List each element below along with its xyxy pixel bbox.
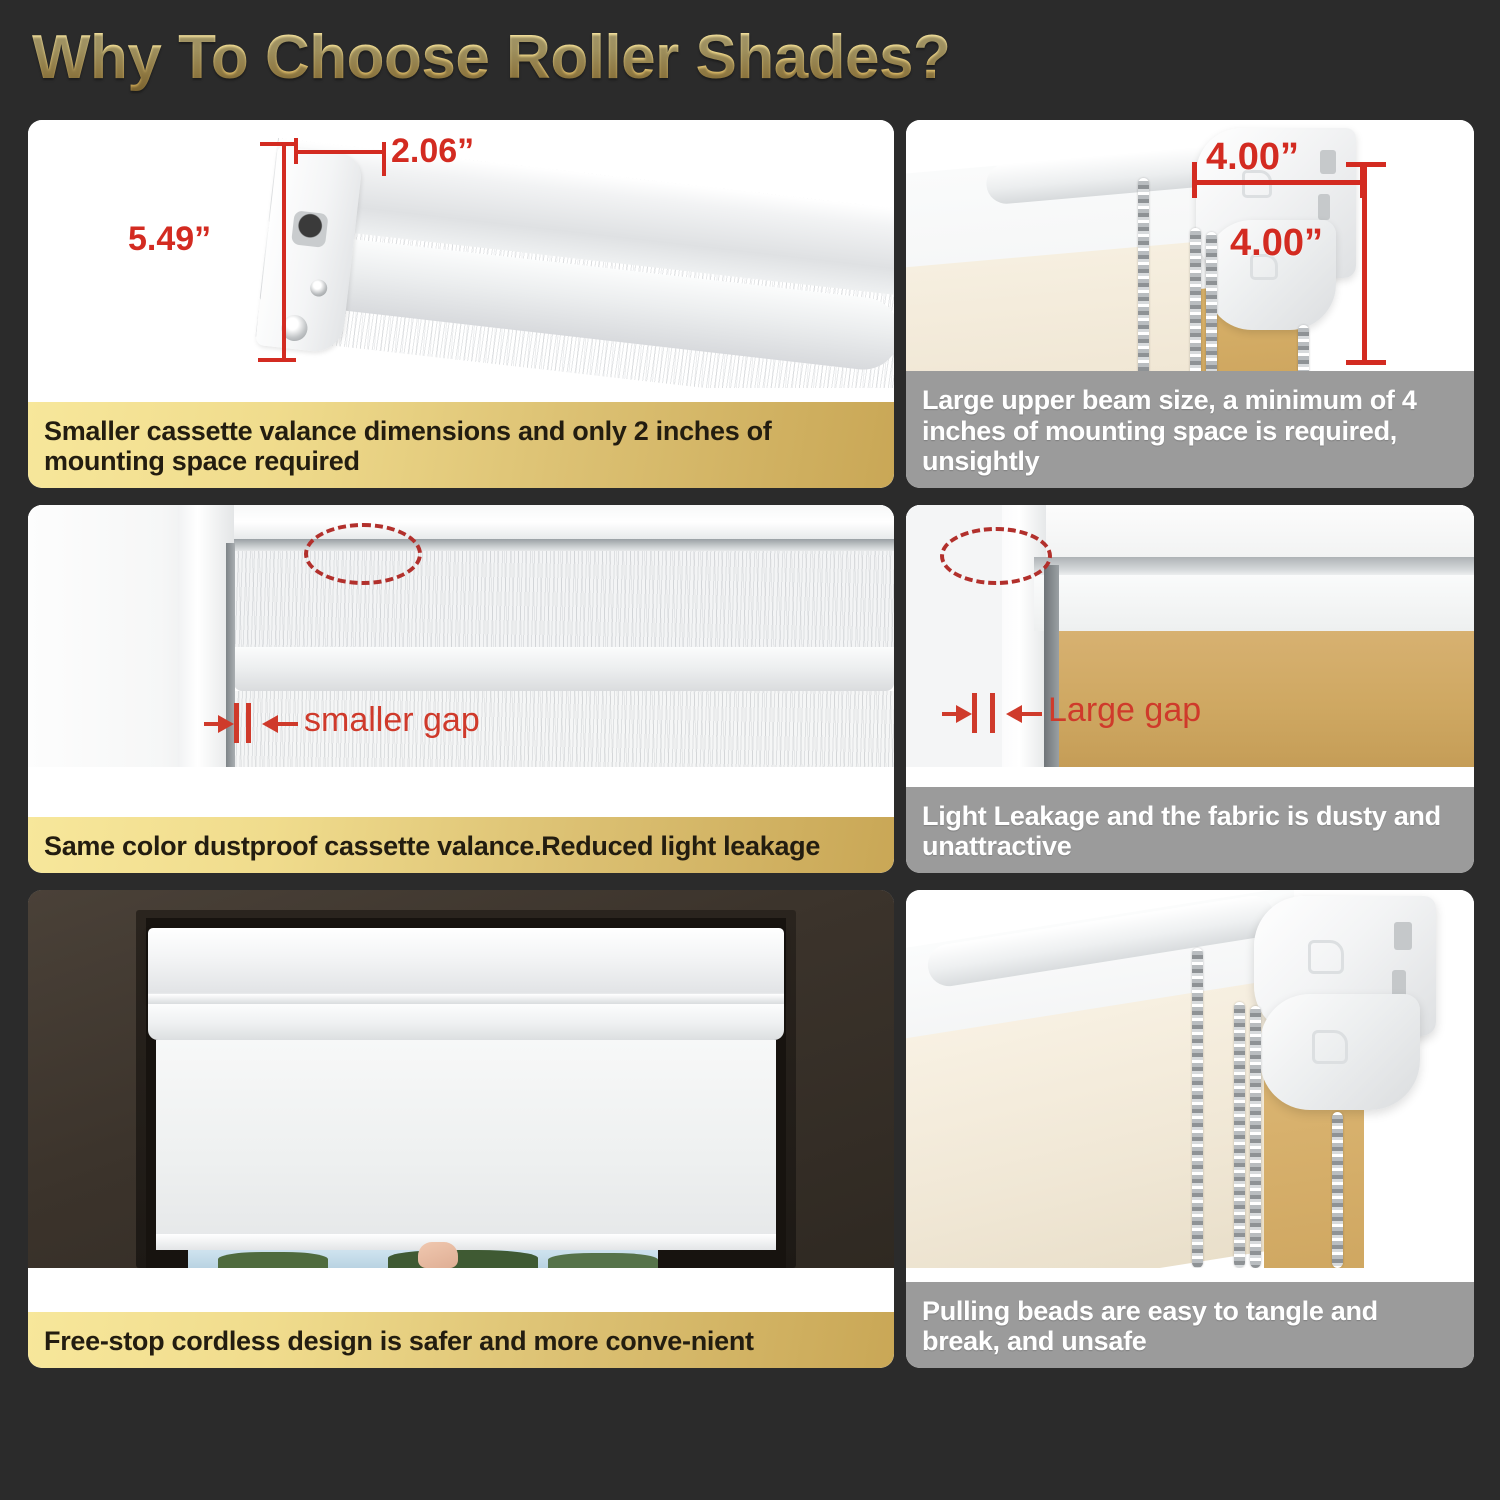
gap-marker-right: [990, 693, 995, 733]
panel-1-photo: 2.06” 5.49”: [28, 120, 894, 388]
width-dim-tick-right: [382, 142, 386, 176]
bracket-emblem-icon: [1312, 1030, 1348, 1064]
height-dim-tick-bottom: [258, 358, 296, 362]
panel-4-photo: Large gap: [906, 505, 1474, 767]
panel-smaller-cassette: 2.06” 5.49” Smaller cassette valance dim…: [28, 120, 894, 488]
bead-chain-art: [1138, 178, 1149, 388]
panel-2-caption: Large upper beam size, a minimum of 4 in…: [906, 371, 1474, 488]
gap-arrow-left-icon: [262, 715, 278, 733]
panel-6-photo: [906, 890, 1474, 1268]
panel-smaller-gap: smaller gap Same color dustproof cassett…: [28, 505, 894, 873]
panel-4-caption: Light Leakage and the fabric is dusty an…: [906, 787, 1474, 873]
comparison-grid: 2.06” 5.49” Smaller cassette valance dim…: [0, 0, 1500, 1500]
bead-chain-art: [1332, 1112, 1343, 1268]
height-dim-label: 4.00”: [1230, 222, 1323, 265]
height-dim-line: [1362, 164, 1367, 364]
cream-fabric-art: [906, 242, 1196, 388]
headrail-art: [1034, 557, 1474, 575]
bead-chain-art: [1192, 948, 1203, 1268]
bracket-notch-icon: [1394, 922, 1412, 950]
height-dim-tick-bottom: [1346, 360, 1386, 365]
bead-chain-art: [1234, 1002, 1245, 1268]
shade-bottom-rail-art: [156, 1234, 776, 1250]
cassette-valance-art: [148, 928, 784, 998]
width-dim-label: 2.06”: [391, 132, 474, 171]
gap-arrow-stem: [1022, 712, 1042, 716]
shade-white-art: [1034, 575, 1474, 631]
bracket-notch-icon: [1318, 194, 1330, 220]
tree-art: [218, 1252, 328, 1268]
gap-arrow-left-icon: [1006, 705, 1022, 723]
panel-pulling-beads: Pulling beads are easy to tangle and bre…: [906, 890, 1474, 1368]
panel-5-caption: Free-stop cordless design is safer and m…: [28, 1312, 894, 1368]
width-dim-line: [1194, 180, 1364, 185]
gap-marker-left: [972, 693, 977, 733]
gap-marker-left: [234, 703, 239, 743]
valance-lip-art: [148, 994, 784, 1004]
gap-arrow-stem: [204, 722, 222, 726]
height-dim-line: [282, 144, 286, 362]
width-dim-label: 4.00”: [1206, 136, 1299, 179]
window-frame-top-art: [178, 505, 894, 539]
panel-3-photo: smaller gap: [28, 505, 894, 767]
gap-arrow-stem: [278, 722, 298, 726]
light-gap-art: [1044, 565, 1059, 767]
panel-2-photo: 4.00” 4.00”: [906, 120, 1474, 388]
panel-large-gap: Large gap Light Leakage and the fabric i…: [906, 505, 1474, 873]
panel-1-caption: Smaller cassette valance dimensions and …: [28, 402, 894, 488]
gap-marker-right: [246, 703, 251, 743]
chain-bracket-lower-art: [1260, 994, 1420, 1110]
width-dim-tick-left: [1192, 162, 1197, 198]
bead-chain-art: [1190, 228, 1201, 388]
highlight-ellipse-icon: [940, 527, 1052, 585]
tree-art: [548, 1253, 658, 1268]
panel-6-caption: Pulling beads are easy to tangle and bre…: [906, 1282, 1474, 1368]
height-dim-label: 5.49”: [128, 220, 211, 259]
bracket-notch-icon: [1320, 150, 1336, 174]
panel-cordless-window: Free-stop cordless design is safer and m…: [28, 890, 894, 1368]
width-dim-line: [296, 150, 386, 154]
bead-chain-art: [1250, 1006, 1261, 1268]
tree-art: [388, 1250, 538, 1268]
end-cap-screw-icon: [309, 279, 328, 298]
shade-roll-art: [234, 647, 894, 691]
panel-large-upper-beam: 4.00” 4.00” Large upper beam size, a min…: [906, 120, 1474, 488]
gap-arrow-stem: [942, 712, 960, 716]
shade-roll-art: [148, 1004, 784, 1040]
bead-chain-art: [1206, 232, 1217, 388]
large-gap-label: Large gap: [1048, 691, 1201, 730]
panel-3-caption: Same color dustproof cassette valance.Re…: [28, 817, 894, 873]
roller-shade-fabric-art: [156, 1040, 776, 1240]
bracket-emblem-icon: [1308, 940, 1344, 974]
end-cap-slot-icon: [291, 210, 329, 248]
highlight-ellipse-icon: [304, 523, 422, 585]
smaller-gap-label: smaller gap: [304, 701, 480, 740]
height-dim-tick-top: [260, 142, 296, 146]
panel-5-photo: [28, 890, 894, 1268]
height-dim-tick-top: [1346, 162, 1386, 167]
hand-art: [418, 1242, 458, 1268]
